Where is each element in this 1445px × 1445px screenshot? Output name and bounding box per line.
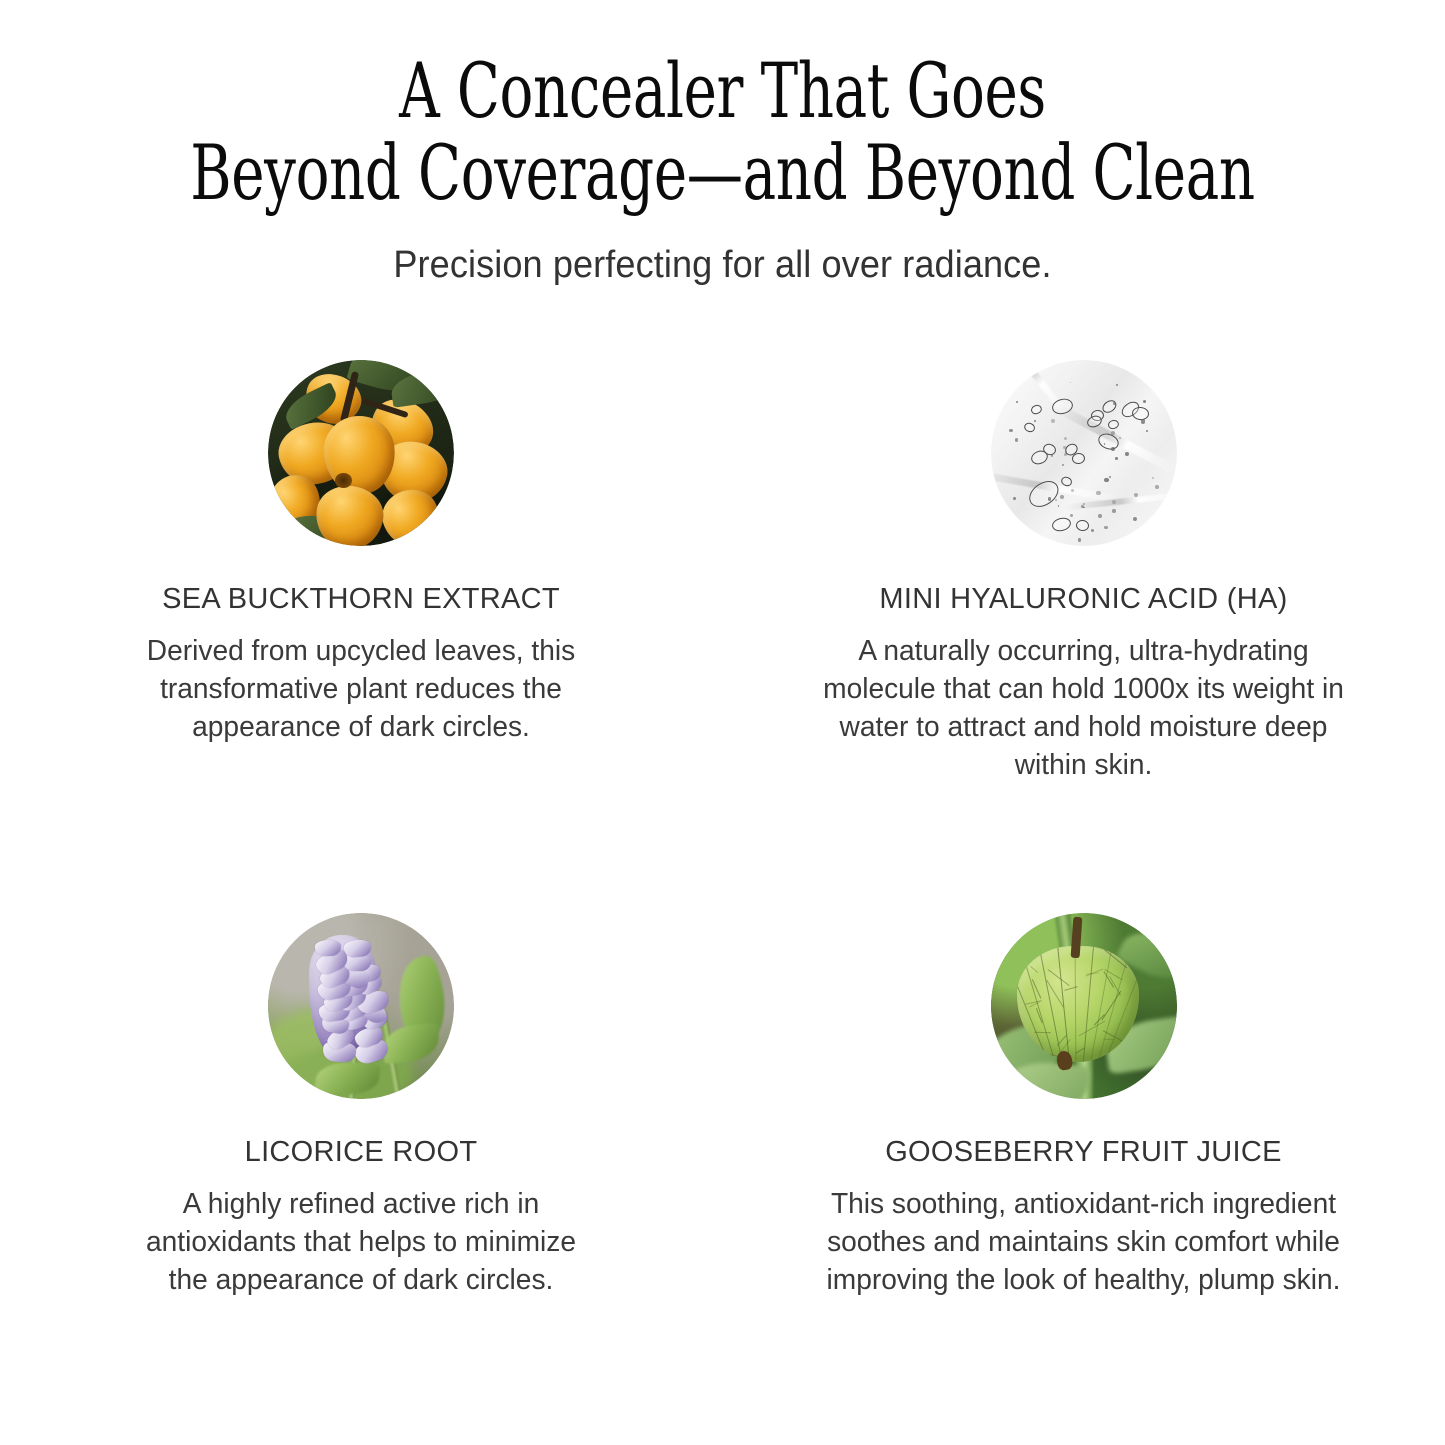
- gel-speckle: [1064, 453, 1067, 456]
- gel-speckle: [1096, 491, 1100, 495]
- gel-speckle: [1152, 477, 1154, 479]
- gel-speckle: [1155, 485, 1159, 489]
- gel-speckle: [1091, 529, 1094, 532]
- page-title: A Concealer That Goes Beyond Coverage—an…: [0, 52, 1445, 212]
- gel-speckle: [1048, 497, 1051, 500]
- gel-speckle: [1051, 454, 1054, 457]
- gel-speckle: [1064, 437, 1067, 440]
- ingredient-description: A highly refined active rich in antioxid…: [123, 1169, 598, 1299]
- page-title-line-2: Beyond Coverage—and Beyond Clean: [188, 134, 1257, 212]
- gel-speckle: [1055, 499, 1057, 501]
- ingredient-title: MINI HYALURONIC ACID (HA): [879, 546, 1287, 616]
- berry-calyx-dot: [335, 473, 352, 488]
- husk-vein: [1086, 968, 1104, 977]
- gel-speckle: [1115, 457, 1117, 459]
- gel-speckle: [1034, 420, 1037, 423]
- gel-bubble: [1131, 406, 1149, 421]
- gel-speckle: [1062, 464, 1064, 466]
- gel-speckle: [1071, 489, 1073, 491]
- gel-speckle: [1116, 384, 1118, 386]
- sea-buckthorn-image: [268, 360, 454, 546]
- page-title-line-1: A Concealer That Goes: [188, 52, 1257, 130]
- husk-vein: [1064, 987, 1078, 992]
- gel-speckle: [1051, 419, 1055, 423]
- husk-vein: [1103, 1038, 1115, 1040]
- gel-speckle: [1070, 514, 1074, 518]
- gel-speckle: [1133, 517, 1137, 521]
- ingredient-title: LICORICE ROOT: [245, 1099, 478, 1169]
- gel-speckle: [1112, 500, 1116, 504]
- page-subtitle: Precision perfecting for all over radian…: [36, 212, 1409, 288]
- gel-speckle: [1009, 429, 1013, 433]
- licorice-root-thumbnail: [268, 913, 454, 1099]
- gel-speckle: [1143, 400, 1146, 403]
- page-header: A Concealer That Goes Beyond Coverage—an…: [0, 52, 1445, 288]
- gel-speckle: [1104, 443, 1106, 445]
- gel-speckle: [1015, 438, 1018, 441]
- gooseberry-illustration: [991, 913, 1177, 1099]
- ingredient-card-licorice-root: LICORICE ROOT A highly refined active ri…: [0, 784, 722, 1299]
- gel-speckle: [1098, 514, 1102, 518]
- gel-speckle: [1013, 497, 1016, 500]
- berries-illustration: [268, 360, 454, 546]
- sea-buckthorn-thumbnail: [268, 360, 454, 546]
- gel-speckle: [1111, 447, 1115, 451]
- gel-speckle: [1112, 509, 1115, 512]
- gel-bubble: [1107, 418, 1120, 430]
- gel-speckle: [1104, 526, 1108, 530]
- berry-shape: [312, 482, 387, 546]
- gel-speckle: [1070, 382, 1072, 384]
- gel-speckle: [1141, 419, 1145, 423]
- gel-speckle: [1060, 495, 1064, 499]
- ingredient-description: Derived from upcycled leaves, this trans…: [123, 616, 598, 746]
- gel-speckle: [1146, 430, 1148, 432]
- gel-speckle: [1058, 505, 1060, 507]
- gel-bubble: [1030, 403, 1044, 416]
- leaf-icon: [382, 1023, 440, 1064]
- licorice-flower-illustration: [268, 913, 454, 1099]
- gel-bubble: [1072, 452, 1086, 465]
- ingredient-description: A naturally occurring, ultra-hydrating m…: [819, 616, 1348, 784]
- hyaluronic-acid-image: [991, 360, 1177, 546]
- gooseberry-thumbnail: [991, 913, 1177, 1099]
- gel-speckle: [1109, 476, 1111, 478]
- gel-speckle: [1125, 452, 1129, 456]
- gel-bubble: [1051, 516, 1072, 533]
- gel-speckle: [1078, 538, 1081, 541]
- ingredient-grid: SEA BUCKTHORN EXTRACT Derived from upcyc…: [0, 360, 1445, 1299]
- gel-speckle: [1016, 401, 1017, 402]
- licorice-root-image: [268, 913, 454, 1099]
- ingredient-card-hyaluronic-acid: MINI HYALURONIC ACID (HA) A naturally oc…: [722, 360, 1445, 784]
- husk-vein: [1047, 969, 1069, 986]
- ingredient-card-gooseberry: GOOSEBERRY FRUIT JUICE This soothing, an…: [722, 784, 1445, 1299]
- husk-vein: [1030, 966, 1039, 974]
- husk-vein: [1102, 991, 1122, 1021]
- ingredient-card-sea-buckthorn: SEA BUCKTHORN EXTRACT Derived from upcyc…: [0, 360, 722, 784]
- gel-speckle: [1119, 437, 1121, 439]
- husk-vein: [1078, 1021, 1104, 1037]
- gel-texture-illustration: [991, 360, 1177, 546]
- ingredient-title: SEA BUCKTHORN EXTRACT: [162, 546, 560, 616]
- ingredient-title: GOOSEBERRY FRUIT JUICE: [885, 1099, 1282, 1169]
- husk-vein: [1075, 946, 1077, 1061]
- hyaluronic-acid-thumbnail: [991, 360, 1177, 546]
- gooseberry-image: [991, 913, 1177, 1099]
- ingredient-description: This soothing, antioxidant-rich ingredie…: [819, 1169, 1348, 1299]
- ingredient-benefits-page: A Concealer That Goes Beyond Coverage—an…: [0, 0, 1445, 1445]
- gel-bubble: [1075, 519, 1089, 532]
- gel-bubble: [1023, 422, 1037, 435]
- gel-speckle: [1104, 478, 1108, 482]
